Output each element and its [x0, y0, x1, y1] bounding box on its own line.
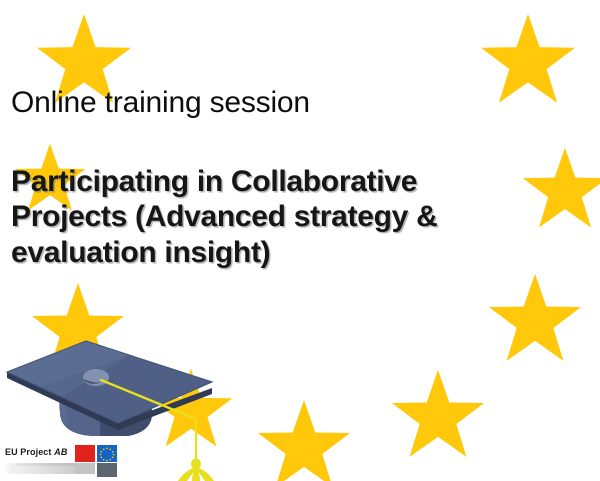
star-lower-right-icon	[487, 272, 583, 368]
star-mid-right-icon	[521, 146, 600, 234]
logo-red-swatch	[75, 445, 95, 462]
star-bottom-center-icon	[256, 398, 352, 481]
star-top-right-icon	[479, 12, 577, 110]
eu-project-ab-logo: EU Project AB	[2, 444, 126, 481]
slide-title: Participating in Collaborative Projects …	[11, 164, 506, 270]
star-bottom-right-icon	[390, 368, 486, 464]
logo-name-primary: EU Project	[5, 447, 52, 457]
eu-flag-icon	[97, 445, 117, 462]
slide-subtitle: Online training session	[11, 86, 310, 119]
logo-name-secondary: AB	[54, 447, 68, 457]
logo-light-block	[75, 463, 95, 474]
logo-gray-block	[97, 463, 117, 477]
logo-wordmark: EU Project AB	[5, 447, 68, 457]
slide-canvas: Online training session Participating in…	[0, 0, 600, 481]
